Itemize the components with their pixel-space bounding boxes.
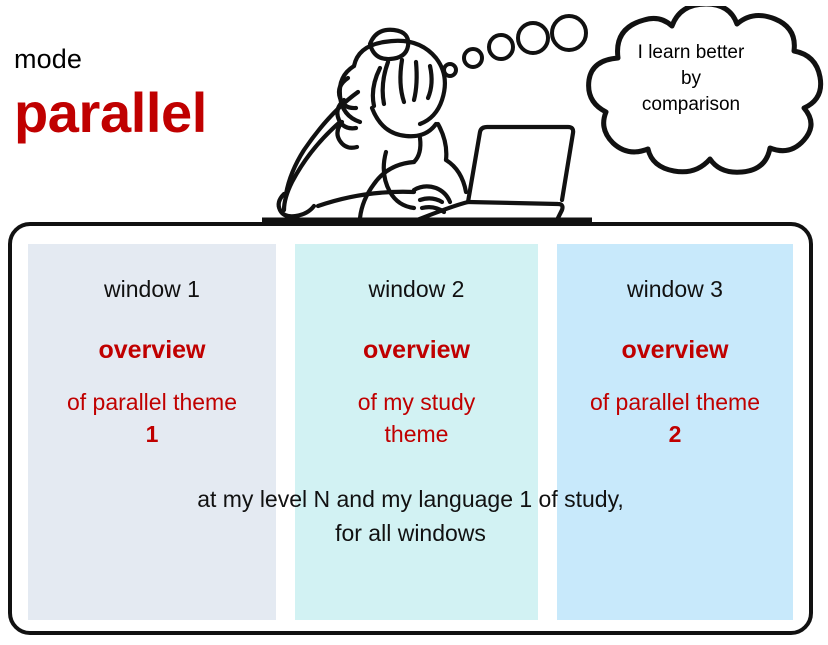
thought-bubble-line-2: by [596,66,786,92]
thought-bubble-line-3: comparison [596,92,786,118]
footer-note: at my level N and my language 1 of study… [28,482,793,550]
window-panel-2-overview: overview [295,336,538,365]
window-panel-1-overview: overview [28,336,276,365]
footer-note-line-1: at my level N and my language 1 of study… [28,482,793,516]
window-panel-2[interactable]: window 2 overview of my study theme [295,244,538,620]
window-panel-2-sub-value: theme [385,421,449,447]
window-panel-1-sub-value: 1 [146,421,159,447]
window-panel-3[interactable]: window 3 overview of parallel theme 2 [557,244,793,620]
window-panel-3-title: window 3 [557,276,793,303]
header-area: mode parallel [0,0,828,222]
footer-note-line-2: for all windows [28,516,793,550]
window-panel-1-sub-prefix: of parallel theme [67,389,237,415]
thought-bubble-text: I learn better by comparison [596,40,786,118]
window-panel-3-subtitle: of parallel theme 2 [557,386,793,450]
window-panel-2-subtitle: of my study theme [295,386,538,450]
window-panel-1-title: window 1 [28,276,276,303]
window-panel-2-title: window 2 [295,276,538,303]
window-panel-1-subtitle: of parallel theme 1 [28,386,276,450]
mode-label: mode [14,44,82,75]
window-panel-3-sub-value: 2 [669,421,682,447]
window-panel-3-overview: overview [557,336,793,365]
mode-value: parallel [14,80,207,145]
window-panel-3-sub-prefix: of parallel theme [590,389,760,415]
window-panel-2-sub-prefix: of my study [358,389,476,415]
window-panel-1[interactable]: window 1 overview of parallel theme 1 [28,244,276,620]
thought-bubble-line-1: I learn better [596,40,786,66]
